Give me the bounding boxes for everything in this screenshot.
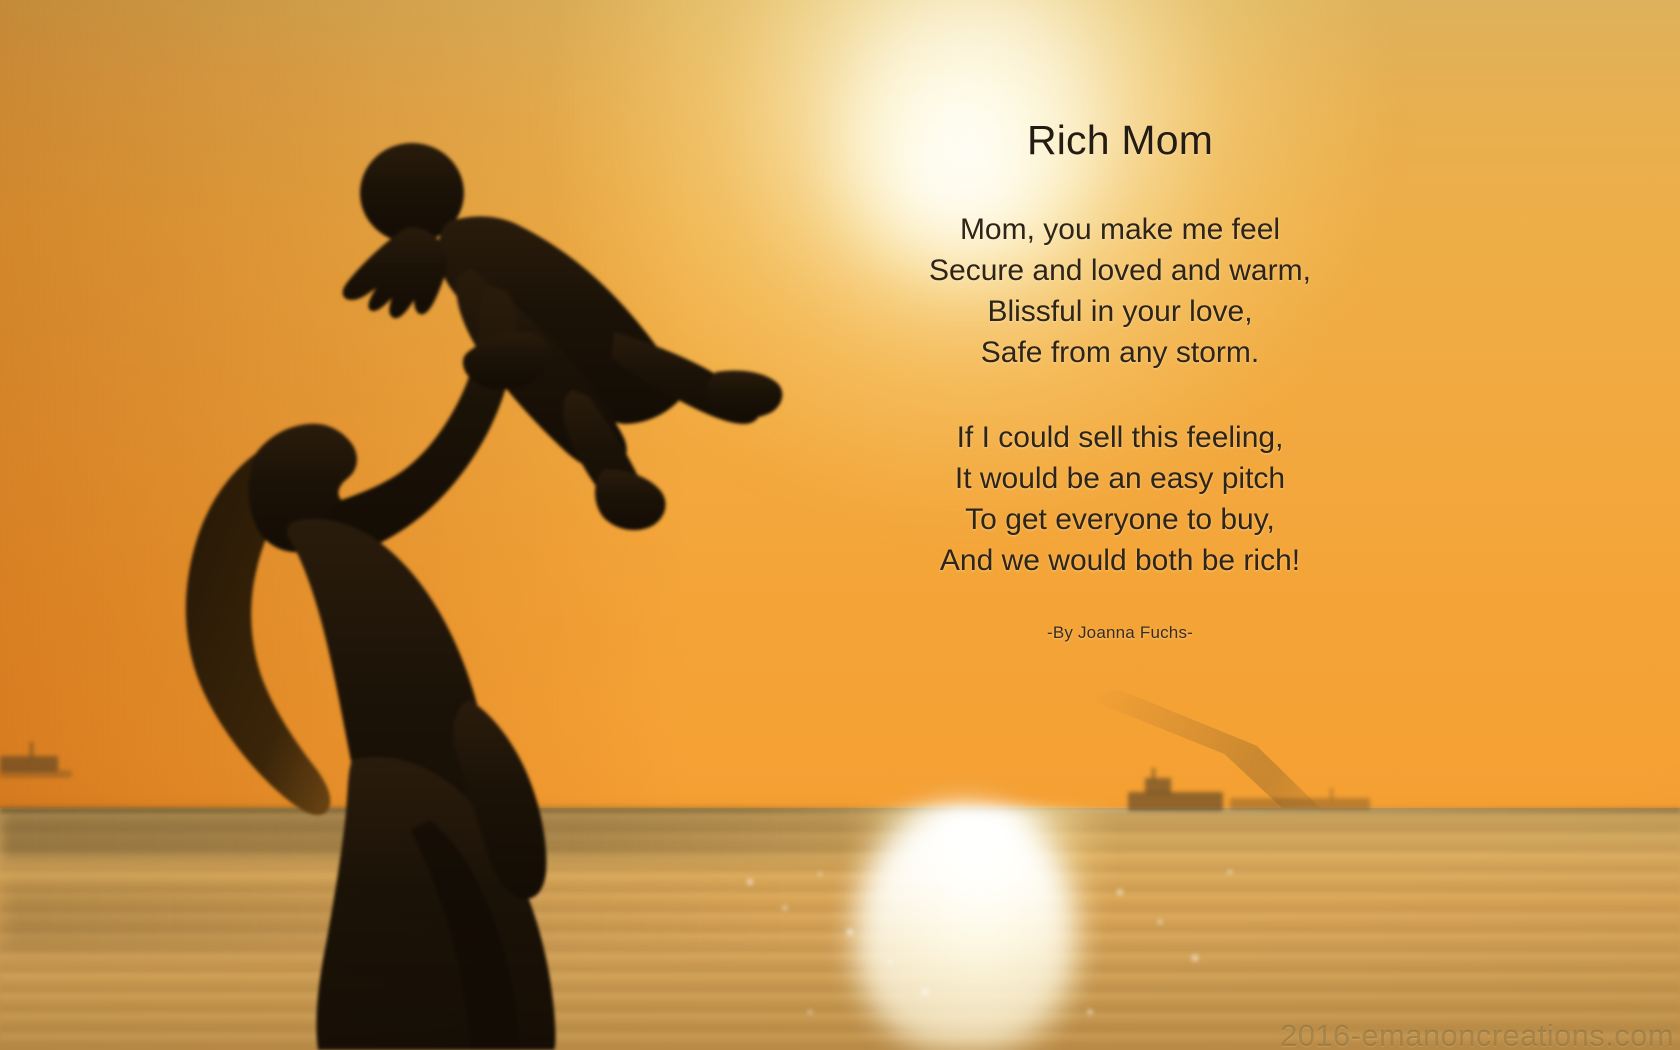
poem-stanza-1: Mom, you make me feel Secure and loved a… (830, 209, 1410, 373)
poem-stanza-2: If I could sell this feeling, It would b… (830, 417, 1410, 581)
poem-line: If I could sell this feeling, (830, 417, 1410, 458)
watermark: 2016-emanoncreations.com (1280, 1018, 1674, 1050)
poem-line: Secure and loved and warm, (830, 250, 1410, 291)
stanza-spacer (830, 373, 1410, 417)
mother-arm (327, 288, 516, 555)
poem-line: Blissful in your love, (830, 291, 1410, 332)
poem-line: And we would both be rich! (830, 540, 1410, 581)
mother-silhouette (186, 288, 556, 1050)
poem-block: Rich Mom Mom, you make me feel Secure an… (830, 118, 1410, 643)
poem-line: Safe from any storm. (830, 332, 1410, 373)
poem-author-credit: -By Joanna Fuchs- (830, 623, 1410, 643)
poem-title: Rich Mom (830, 118, 1410, 163)
poem-line: To get everyone to buy, (830, 499, 1410, 540)
poem-line: It would be an easy pitch (830, 458, 1410, 499)
sunset-poem-image: Rich Mom Mom, you make me feel Secure an… (0, 0, 1680, 1050)
poem-line: Mom, you make me feel (830, 209, 1410, 250)
